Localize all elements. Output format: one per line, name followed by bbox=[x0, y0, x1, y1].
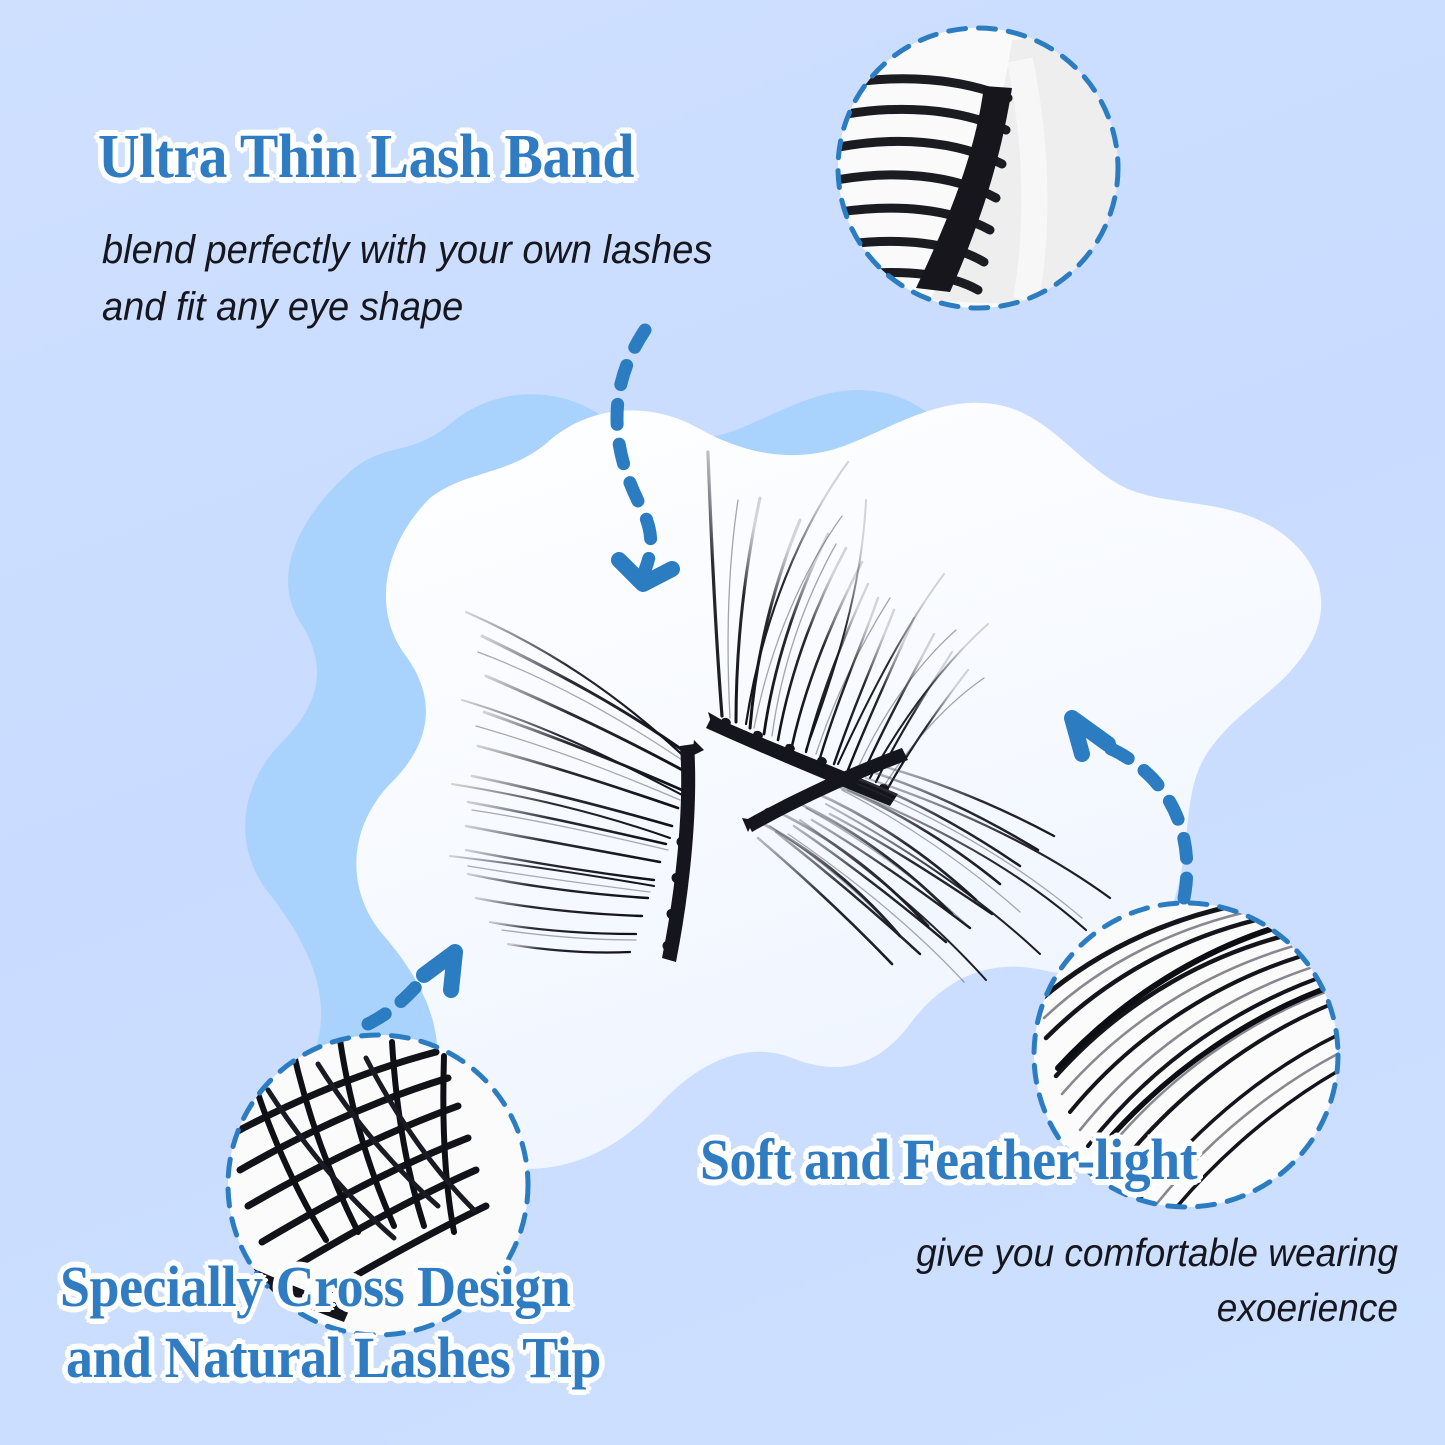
arrowhead-up-left bbox=[1072, 718, 1108, 754]
subtext-line-2: and fit any eye shape bbox=[102, 279, 712, 336]
heading-line-2: and Natural Lashes Tip bbox=[66, 1327, 601, 1390]
subtext-line-2: exoerience bbox=[847, 1281, 1398, 1336]
feature-subtext-bottom-right: give you comfortable wearing exoerience bbox=[847, 1226, 1398, 1337]
feature-heading-soft-and-feather-light: Soft and Feather-light bbox=[700, 1129, 1197, 1192]
arrow-to-lash-band bbox=[617, 330, 672, 584]
arrow-to-feather bbox=[1072, 718, 1187, 898]
feature-heading-ultra-thin-lash-band: Ultra Thin Lash Band bbox=[98, 124, 634, 191]
subtext-line-1: blend perfectly with your own lashes bbox=[102, 222, 712, 279]
arrow-to-cross bbox=[368, 952, 455, 1024]
infographic-canvas: Ultra Thin Lash Band blend perfectly wit… bbox=[0, 0, 1445, 1445]
arrowhead-up-right bbox=[424, 952, 455, 990]
feature-subtext-top-left: blend perfectly with your own lashes and… bbox=[102, 222, 712, 336]
subtext-line-1: give you comfortable wearing bbox=[847, 1226, 1398, 1281]
feature-heading-specially-cross-design: Specially Cross Design and Natural Lashe… bbox=[60, 1256, 635, 1381]
heading-line-1: Specially Cross Design bbox=[60, 1256, 595, 1319]
